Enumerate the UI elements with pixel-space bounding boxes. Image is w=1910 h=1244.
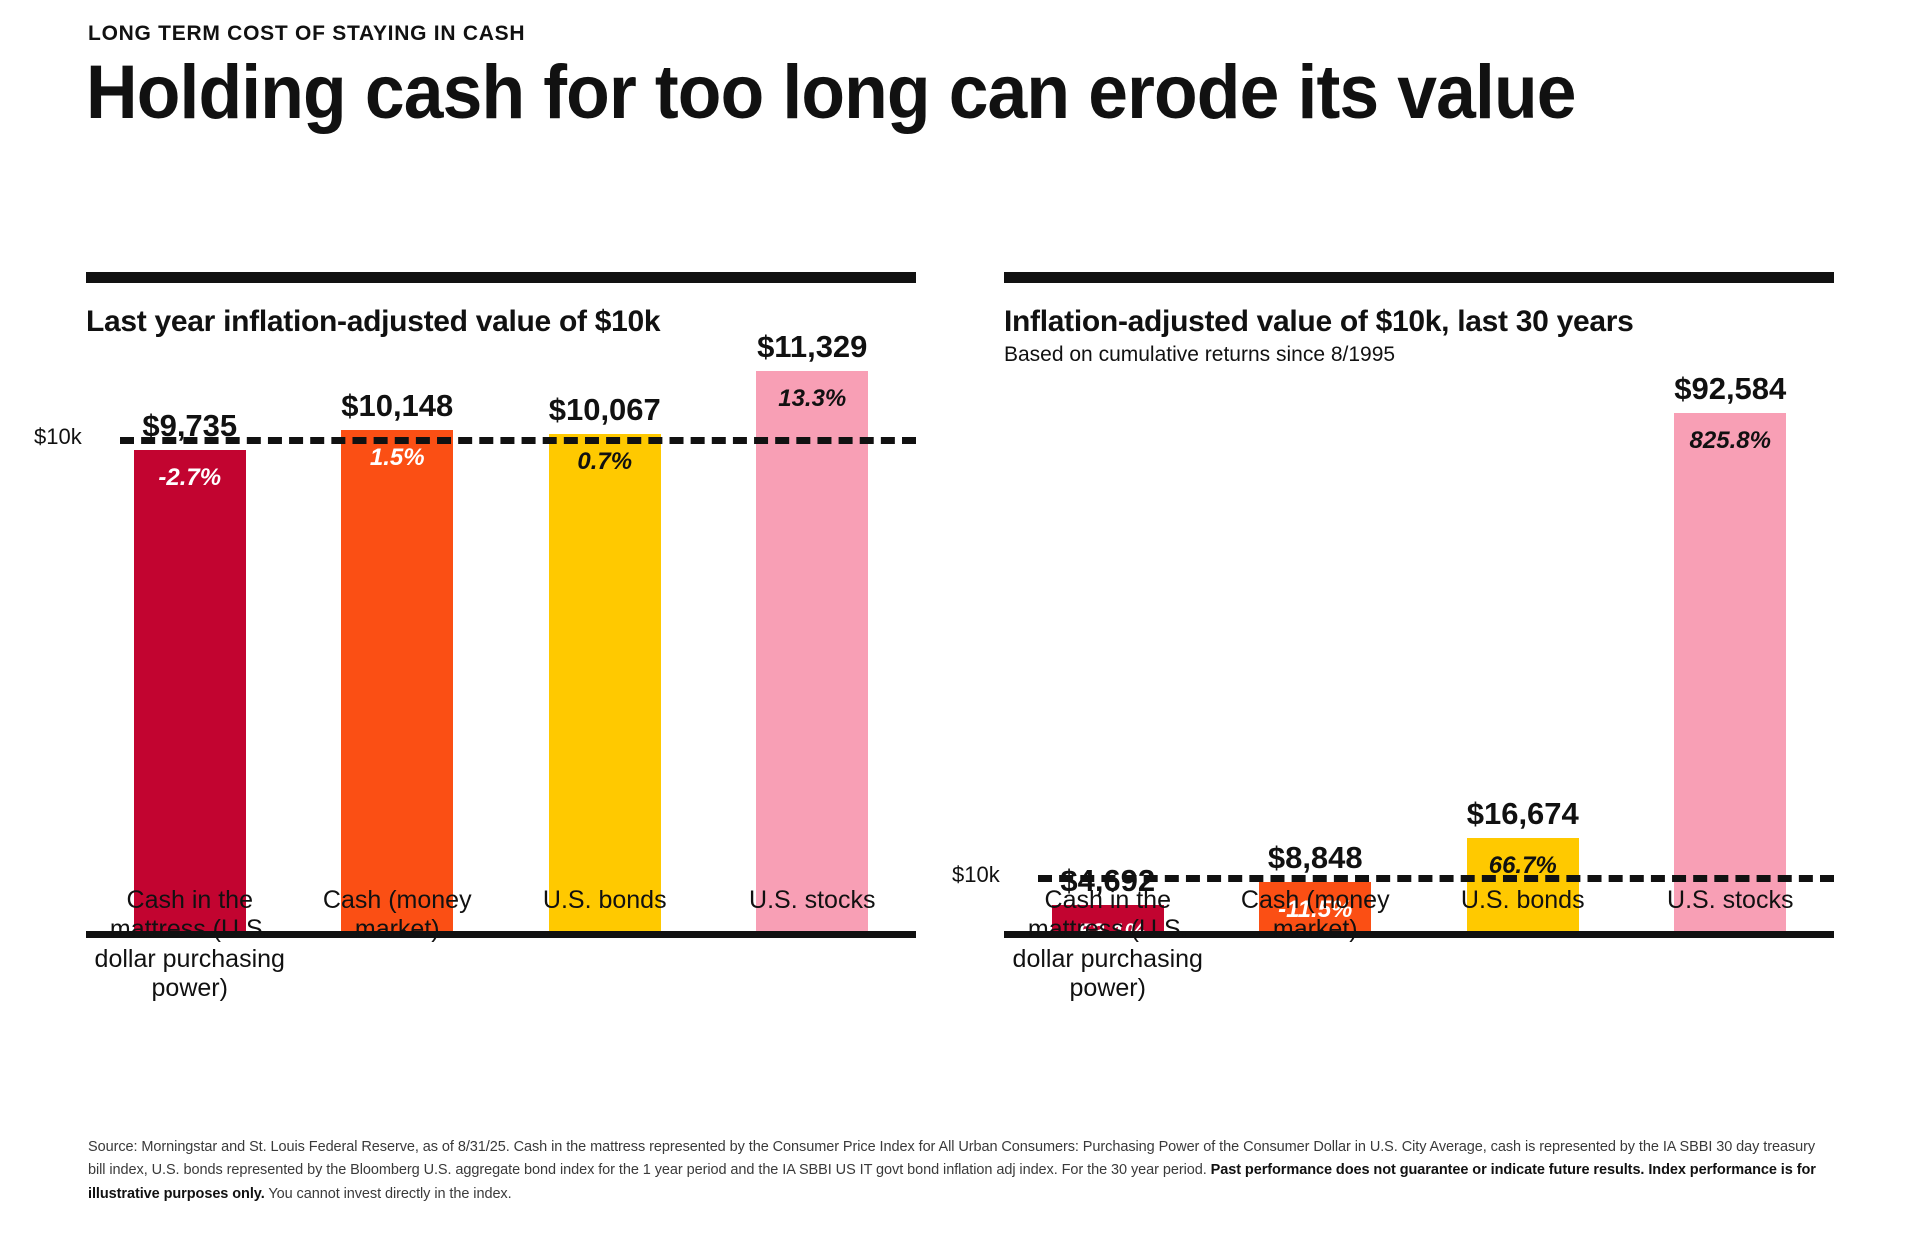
- bar-column: $8,848-11.5%: [1212, 372, 1420, 931]
- panel-left: Last year inflation-adjusted value of $1…: [86, 272, 916, 339]
- panel-right-rule: [1004, 272, 1834, 283]
- bar: $9,735-2.7%: [134, 450, 246, 931]
- category-label: U.S. bonds: [501, 886, 709, 1003]
- bar-column: $4,692-53.1%: [1004, 372, 1212, 931]
- bar-column: $9,735-2.7%: [86, 338, 294, 931]
- category-label: Cash in the mattress (U.S. dollar purcha…: [1004, 886, 1212, 1003]
- chart-left-category-labels: Cash in the mattress (U.S. dollar purcha…: [86, 886, 916, 1003]
- bar-value-label: $92,584: [1674, 371, 1786, 407]
- chart-left-reference-label: $10k: [34, 424, 82, 450]
- bar-column: $16,67466.7%: [1419, 372, 1627, 931]
- chart-left: $9,735-2.7%$10,1481.5%$10,0670.7%$11,329…: [86, 338, 916, 938]
- eyebrow-label: LONG TERM COST OF STAYING IN CASH: [88, 22, 525, 46]
- bar-column: $11,32913.3%: [709, 338, 917, 931]
- bar: $92,584825.8%: [1674, 413, 1786, 931]
- bar-percent-label: 0.7%: [577, 448, 632, 476]
- bar-column: $92,584825.8%: [1627, 372, 1835, 931]
- bar-column: $10,1481.5%: [294, 338, 502, 931]
- chart-left-bars: $9,735-2.7%$10,1481.5%$10,0670.7%$11,329…: [86, 338, 916, 931]
- chart-right-reference-label: $10k: [952, 862, 1000, 888]
- infographic-page: LONG TERM COST OF STAYING IN CASH Holdin…: [0, 0, 1910, 1244]
- bar-column: $10,0670.7%: [501, 338, 709, 931]
- panel-right: Inflation-adjusted value of $10k, last 3…: [1004, 272, 1834, 367]
- chart-right-reference-line: [1038, 875, 1834, 882]
- bar-percent-label: 13.3%: [778, 385, 846, 413]
- page-title: Holding cash for too long can erode its …: [86, 55, 1576, 131]
- panel-left-rule: [86, 272, 916, 283]
- chart-right-category-labels: Cash in the mattress (U.S. dollar purcha…: [1004, 886, 1834, 1003]
- bar: $10,0670.7%: [549, 434, 661, 931]
- bar-percent-label: 825.8%: [1690, 427, 1771, 455]
- category-label: Cash in the mattress (U.S. dollar purcha…: [86, 886, 294, 1003]
- category-label: Cash (money market): [1212, 886, 1420, 1003]
- category-label: U.S. stocks: [709, 886, 917, 1003]
- bar-value-label: $16,674: [1467, 796, 1579, 832]
- source-footnote: Source: Morningstar and St. Louis Federa…: [88, 1136, 1830, 1206]
- chart-right: $4,692-53.1%$8,848-11.5%$16,67466.7%$92,…: [1004, 372, 1834, 938]
- chart-right-bars: $4,692-53.1%$8,848-11.5%$16,67466.7%$92,…: [1004, 372, 1834, 931]
- bar: $11,32913.3%: [756, 371, 868, 931]
- bar: $10,1481.5%: [341, 430, 453, 931]
- category-label: U.S. bonds: [1419, 886, 1627, 1003]
- bar-value-label: $11,329: [757, 329, 867, 365]
- category-label: U.S. stocks: [1627, 886, 1835, 1003]
- footnote-part-2: You cannot invest directly in the index.: [265, 1186, 512, 1202]
- bar-value-label: $8,848: [1268, 840, 1363, 876]
- chart-left-reference-line: [120, 437, 916, 444]
- bar-percent-label: 1.5%: [370, 444, 425, 472]
- panel-right-subtitle: Based on cumulative returns since 8/1995: [1004, 343, 1834, 367]
- bar-value-label: $10,148: [341, 388, 453, 424]
- bar-value-label: $10,067: [549, 392, 661, 428]
- category-label: Cash (money market): [294, 886, 502, 1003]
- bar-percent-label: -2.7%: [158, 464, 221, 492]
- panel-right-title: Inflation-adjusted value of $10k, last 3…: [1004, 305, 1834, 339]
